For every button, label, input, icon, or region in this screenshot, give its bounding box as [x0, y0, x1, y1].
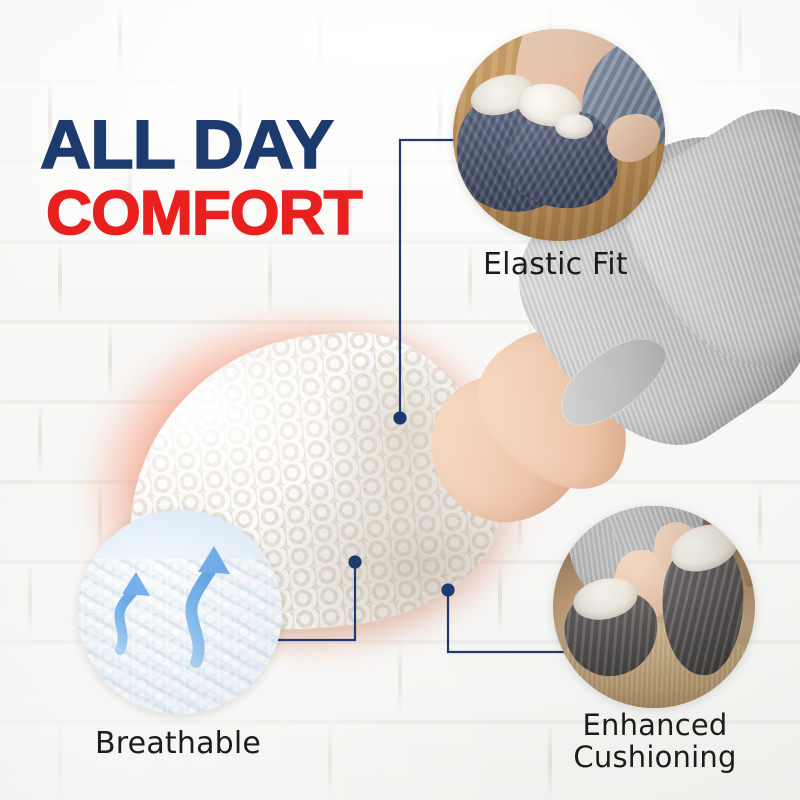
- product-feature-graphic: Elastic Fit: [0, 0, 800, 800]
- inset-breathable: [78, 510, 282, 714]
- breathable-photo: [78, 510, 282, 714]
- label-enhanced-cushioning-line1: Enhanced: [555, 709, 755, 741]
- label-breathable: Breathable: [95, 726, 261, 761]
- headline: ALL DAY COMFORT: [40, 112, 352, 244]
- headline-line-2: COMFORT: [46, 184, 362, 244]
- headline-line-1: ALL DAY: [40, 112, 362, 178]
- inset-elastic-fit: [453, 29, 665, 241]
- inset-enhanced-cushioning: [553, 506, 755, 708]
- label-elastic-fit: Elastic Fit: [483, 247, 628, 282]
- elastic-fit-photo: [453, 29, 665, 241]
- label-enhanced-cushioning-line2: Cushioning: [555, 741, 755, 773]
- label-enhanced-cushioning: Enhanced Cushioning: [555, 709, 755, 774]
- enhanced-cushioning-photo: [553, 506, 755, 708]
